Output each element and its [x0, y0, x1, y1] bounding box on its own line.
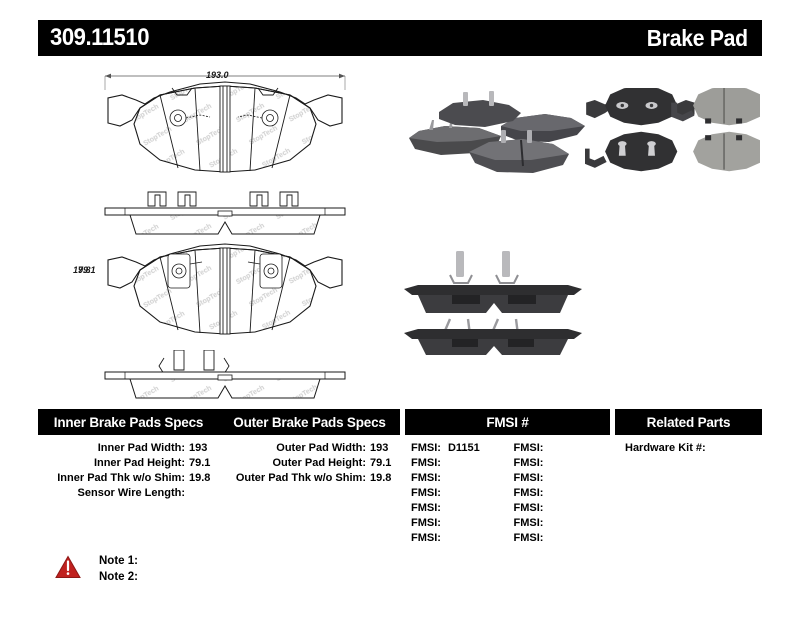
fmsi-row: FMSI: [514, 456, 611, 471]
spec-value [189, 486, 213, 501]
fmsi-subcolumn-left: FMSI: D1151 FMSI: FMSI: FMSI: FMSI: [405, 441, 508, 546]
header-inner-specs: Inner Brake Pads Specs [38, 409, 219, 435]
spec-label: Outer Pad Width: [276, 441, 366, 456]
fmsi-row: FMSI: [514, 441, 611, 456]
spec-label: Inner Pad Thk w/o Shim: [57, 471, 185, 486]
fmsi-value: D1151 [448, 441, 480, 456]
fmsi-subcolumn-right: FMSI: FMSI: FMSI: FMSI: FMSI: [508, 441, 611, 546]
fmsi-label: FMSI: [411, 531, 441, 546]
spec-row: Sensor Wire Length: [38, 486, 219, 501]
fmsi-row: FMSI: [514, 486, 611, 501]
fmsi-label: FMSI: [514, 486, 544, 501]
brake-pad-photo-edge-pair [398, 245, 588, 360]
brake-pad-photo-angled [405, 90, 585, 180]
spec-label: Outer Pad Height: [272, 456, 366, 471]
spec-row: Inner Pad Height: 79.1 [38, 456, 219, 471]
fmsi-label: FMSI: [411, 486, 441, 501]
hardware-kit-label: Hardware Kit #: [625, 442, 706, 454]
fmsi-label: FMSI: [411, 471, 441, 486]
related-parts-column: Hardware Kit #: [615, 441, 762, 546]
fmsi-column: FMSI: D1151 FMSI: FMSI: FMSI: FMSI: [405, 441, 610, 546]
fmsi-label: FMSI: [514, 501, 544, 516]
spec-value: 193 [189, 441, 213, 456]
outer-specs-column: Outer Pad Width: 193 Outer Pad Height: 7… [219, 441, 400, 546]
fmsi-row: FMSI: D1151 [411, 441, 508, 456]
fmsi-row: FMSI: [411, 531, 508, 546]
spec-table-header-row: Inner Brake Pads Specs Outer Brake Pads … [38, 409, 762, 435]
pad-edge-view-drawing-bottom: StopTech [100, 350, 350, 410]
spec-label: Inner Pad Height: [94, 456, 185, 471]
pad-plan-view-drawing: StopTech [100, 68, 350, 188]
header-fmsi: FMSI # [405, 409, 610, 435]
spec-row: Inner Pad Width: 193 [38, 441, 219, 456]
dimension-label-width-top: 193.0 [206, 70, 229, 80]
fmsi-row: FMSI: [514, 516, 611, 531]
spec-value: 193 [370, 441, 394, 456]
spec-value: 19.8 [189, 471, 213, 486]
fmsi-label: FMSI: [411, 441, 441, 456]
spec-value: 79.1 [370, 456, 394, 471]
spec-value: 19.8 [370, 471, 394, 486]
warning-triangle-icon [55, 555, 81, 579]
fmsi-label: FMSI: [411, 456, 441, 471]
dimension-label-height: 79.1 [78, 265, 96, 275]
product-type-label: Brake Pad [647, 25, 748, 52]
spec-table: Inner Brake Pads Specs Outer Brake Pads … [38, 409, 762, 546]
inner-specs-column: Inner Pad Width: 193 Inner Pad Height: 7… [38, 441, 219, 546]
spec-table-body: Inner Pad Width: 193 Inner Pad Height: 7… [38, 441, 762, 546]
fmsi-label: FMSI: [514, 471, 544, 486]
related-parts-row: Hardware Kit #: [625, 441, 762, 456]
pad-plan-view-drawing-2: StopTech [100, 230, 350, 350]
fmsi-label: FMSI: [514, 441, 544, 456]
fmsi-label: FMSI: [514, 456, 544, 471]
fmsi-label: FMSI: [411, 516, 441, 531]
fmsi-row: FMSI: [411, 486, 508, 501]
spec-row: Outer Pad Width: 193 [219, 441, 400, 456]
spec-row: Outer Pad Thk w/o Shim: 19.8 [219, 471, 400, 486]
spec-row: Inner Pad Thk w/o Shim: 19.8 [38, 471, 219, 486]
spec-label: Sensor Wire Length: [78, 486, 185, 501]
fmsi-row: FMSI: [411, 471, 508, 486]
notes-text-block: Note 1: Note 2: [99, 553, 138, 585]
spec-label: Outer Pad Thk w/o Shim: [236, 471, 366, 486]
fmsi-row: FMSI: [514, 471, 611, 486]
header-outer-specs: Outer Brake Pads Specs [219, 409, 400, 435]
fmsi-row: FMSI: [514, 531, 611, 546]
fmsi-label: FMSI: [514, 531, 544, 546]
note-line-1: Note 1: [99, 553, 138, 569]
spec-value: 79.1 [189, 456, 213, 471]
part-number: 309.11510 [50, 24, 149, 52]
fmsi-row: FMSI: [514, 501, 611, 516]
fmsi-row: FMSI: [411, 456, 508, 471]
header-related-parts: Related Parts [615, 409, 762, 435]
fmsi-row: FMSI: [411, 516, 508, 531]
spec-row: Outer Pad Height: 79.1 [219, 456, 400, 471]
spec-label: Inner Pad Width: [98, 441, 185, 456]
fmsi-label: FMSI: [514, 516, 544, 531]
fmsi-row: FMSI: [411, 501, 508, 516]
note-line-2: Note 2: [99, 569, 138, 585]
fmsi-label: FMSI: [411, 501, 441, 516]
brake-pad-photo-grid [585, 88, 760, 180]
notes-section: Note 1: Note 2: [55, 553, 138, 585]
drawing-area: StopTech [0, 60, 800, 390]
title-bar: 309.11510 Brake Pad [38, 20, 762, 56]
